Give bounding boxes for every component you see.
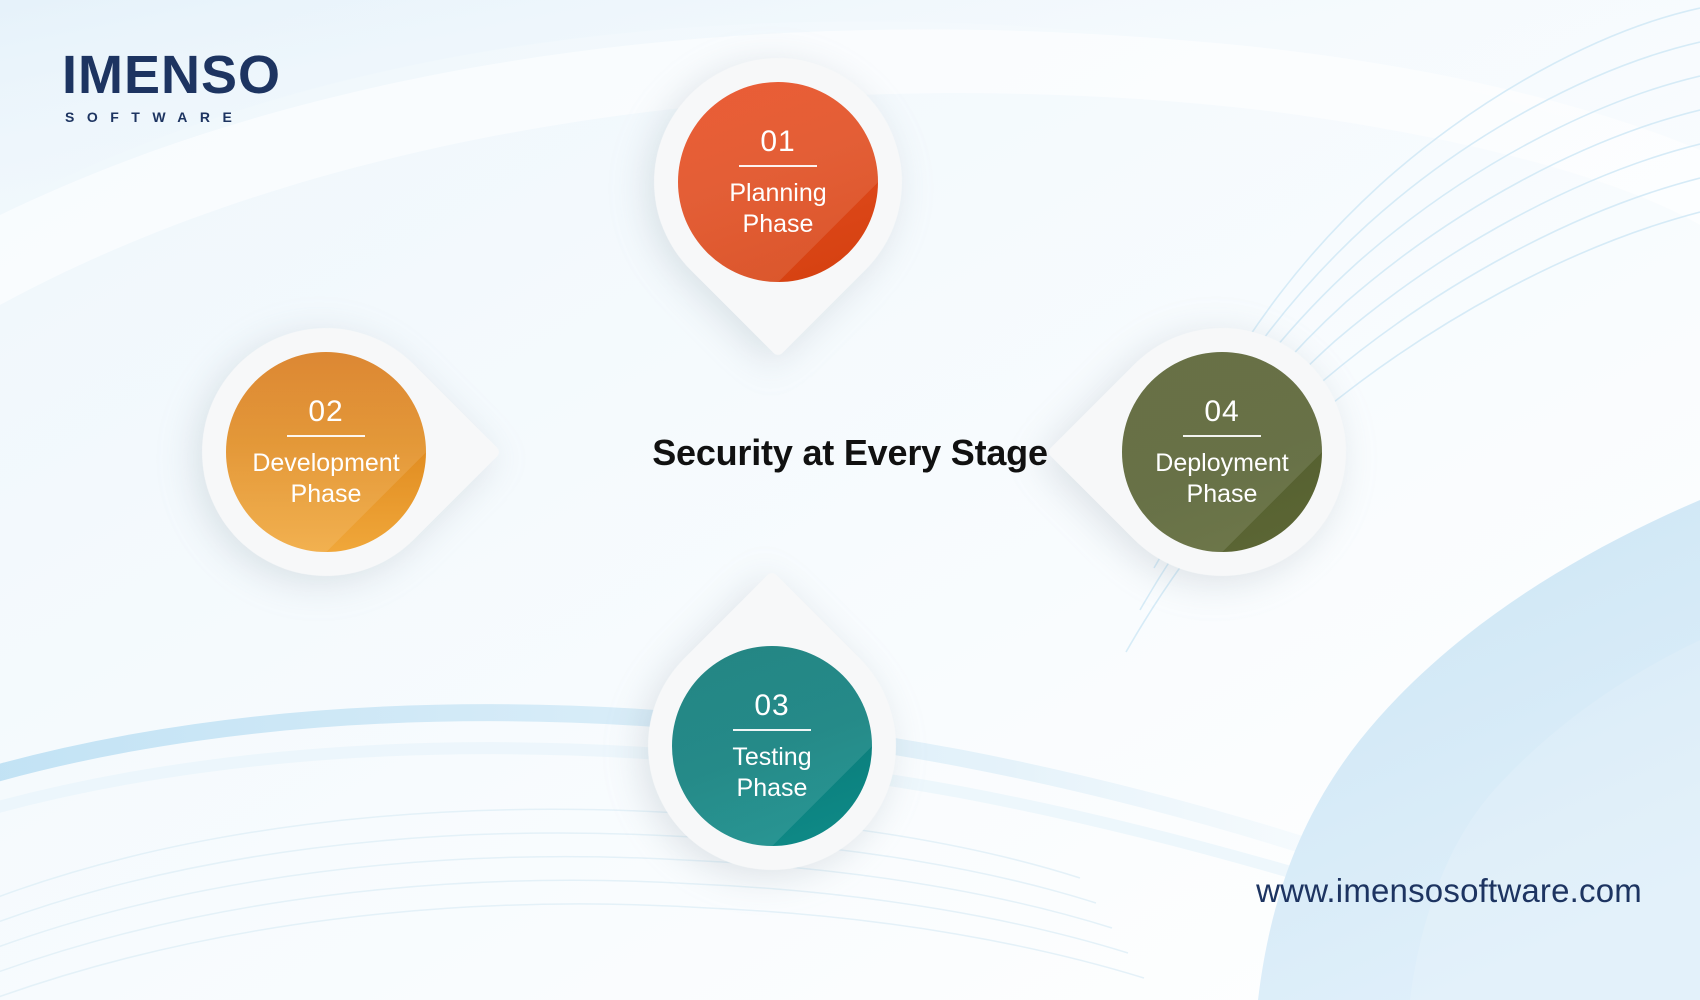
phase-label-03-line2: Phase — [737, 774, 808, 802]
phase-pin-planning[interactable]: 01 Planning Phase — [654, 58, 902, 306]
phase-label-02-line2: Phase — [291, 480, 362, 508]
phase-label-03-line1: Testing — [732, 743, 811, 771]
logo-wordmark: IMENSO — [62, 48, 281, 102]
phase-label-03: Testing Phase — [732, 742, 811, 803]
phase-circle-01: 01 Planning Phase — [678, 82, 878, 282]
website-url[interactable]: www.imensosoftware.com — [1256, 872, 1642, 910]
phase-number-02: 02 — [308, 395, 343, 437]
page-title: Security at Every Stage — [0, 432, 1700, 474]
phase-circle-03: 03 Testing Phase — [672, 646, 872, 846]
phase-label-04-line2: Phase — [1187, 480, 1258, 508]
phase-label-01: Planning Phase — [729, 178, 826, 239]
phase-pin-testing[interactable]: 03 Testing Phase — [648, 622, 896, 870]
phase-number-04: 04 — [1204, 395, 1239, 437]
phase-label-01-line2: Phase — [743, 210, 814, 238]
brand-logo: IMENSO SOFTWARE — [62, 48, 281, 125]
logo-tagline: SOFTWARE — [65, 109, 281, 125]
phase-label-01-line1: Planning — [729, 179, 826, 207]
phase-number-01: 01 — [760, 125, 795, 167]
phase-number-03: 03 — [754, 689, 789, 731]
